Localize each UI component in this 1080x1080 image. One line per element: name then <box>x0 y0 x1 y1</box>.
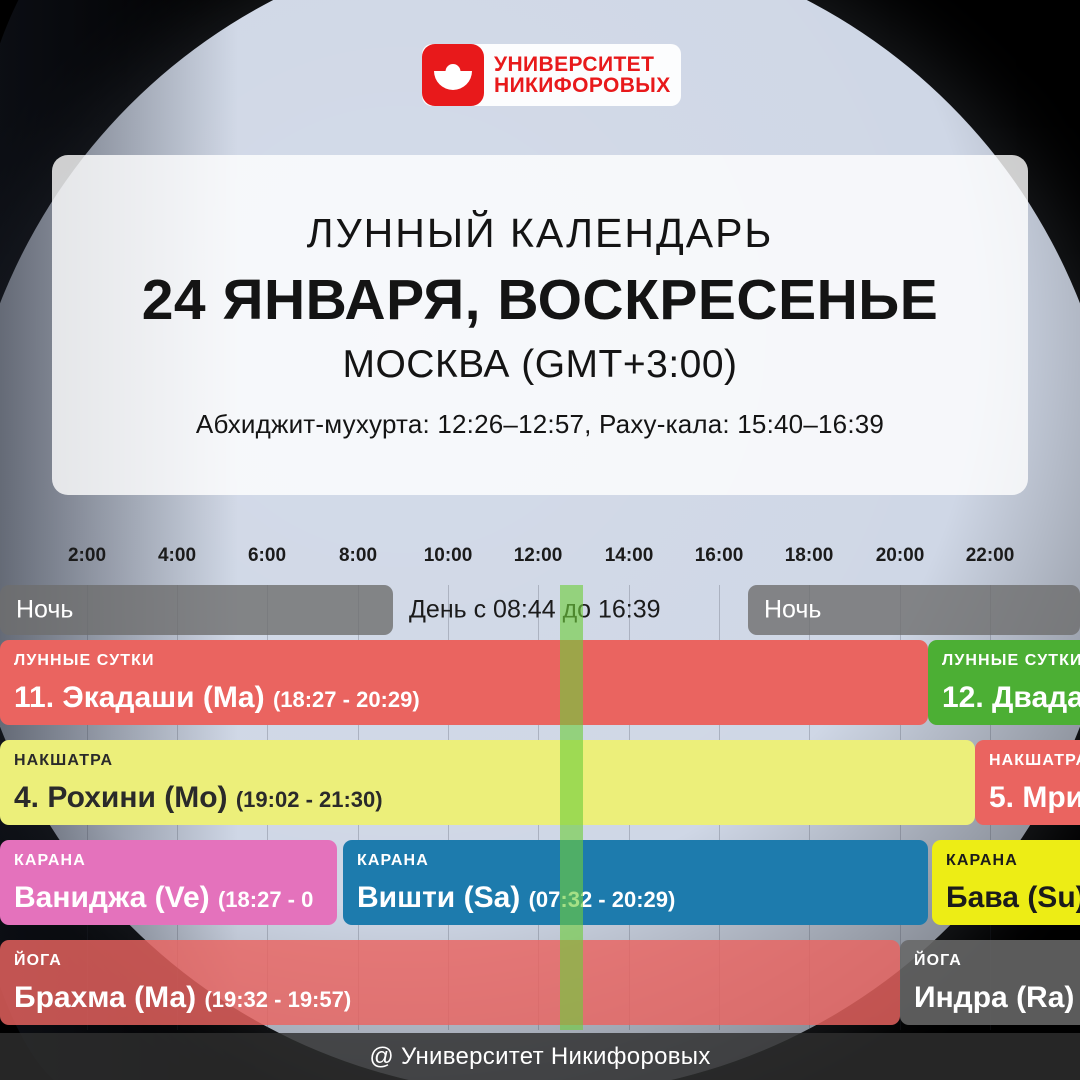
timeline-row-lunar-day: ЛУННЫЕ СУТКИ11. Экадаши (Ma) (18:27 - 20… <box>0 640 1080 725</box>
timeline-bar[interactable]: ЙОГАБрахма (Ма) (19:32 - 19:57) <box>0 940 900 1025</box>
bar-category-label: ЙОГА <box>914 952 962 970</box>
bar-value-label: Вишти (Sa) (07:32 - 20:29) <box>357 881 675 915</box>
logo-crescent-shape <box>434 71 472 90</box>
timeline-bar[interactable]: ЙОГАИндра (Ra) <box>900 940 1080 1025</box>
timeline-row-karana: КАРАНАВаниджа (Ve) (18:27 - 0КАРАНАВишти… <box>0 840 1080 925</box>
timeline-rows: НочьДень с 08:44 до 16:39НочьЛУННЫЕ СУТК… <box>0 585 1080 1033</box>
bar-value-label: 12. Двадаши (Sa) <box>942 681 1080 715</box>
axis-tick-label: 16:00 <box>695 545 744 567</box>
axis-tick-label: 18:00 <box>785 545 834 567</box>
muhurta-line: Абхиджит-мухурта: 12:26–12:57, Раху-кала… <box>196 409 884 440</box>
logo-line-1: УНИВЕРСИТЕТ <box>494 54 671 75</box>
daynight-label: Ночь <box>764 596 821 625</box>
infographic-root: УНИВЕРСИТЕТ НИКИФОРОВЫХ ЛУННЫЙ КАЛЕНДАРЬ… <box>0 0 1080 1080</box>
footer-credit: @ Университет Никифоровых <box>0 1033 1080 1080</box>
bar-category-label: КАРАНА <box>357 852 429 870</box>
timeline-bar[interactable]: ЛУННЫЕ СУТКИ12. Двадаши (Sa) <box>928 640 1080 725</box>
timeline-bar[interactable]: КАРАНАВишти (Sa) (07:32 - 20:29) <box>343 840 928 925</box>
bar-category-label: НАКШАТРА <box>989 752 1080 770</box>
timeline-bar[interactable]: КАРАНАБава (Su) <box>932 840 1080 925</box>
daynight-label: Ночь <box>16 596 73 625</box>
daynight-segment-night-left: Ночь <box>0 585 393 635</box>
bar-value-label: 5. Мригашира (Ma) <box>989 781 1080 815</box>
daynight-row: НочьДень с 08:44 до 16:39Ночь <box>0 585 1080 635</box>
brand-logo: УНИВЕРСИТЕТ НИКИФОРОВЫХ <box>422 44 681 106</box>
timeline-row-nakshatra: НАКШАТРА4. Рохини (Мо) (19:02 - 21:30)НА… <box>0 740 1080 825</box>
bar-time-range: (18:27 - 20:29) <box>273 687 420 712</box>
title-card: ЛУННЫЙ КАЛЕНДАРЬ 24 ЯНВАРЯ, ВОСКРЕСЕНЬЕ … <box>52 155 1028 495</box>
location-timezone: МОСКВА (GMT+3:00) <box>342 343 737 387</box>
bar-time-range: (18:27 - 0 <box>218 887 313 912</box>
axis-tick-label: 2:00 <box>68 545 106 567</box>
daynight-label: День с 08:44 до 16:39 <box>409 596 661 625</box>
logo-wordmark: УНИВЕРСИТЕТ НИКИФОРОВЫХ <box>494 54 671 97</box>
abhijit-muhurta-band <box>560 585 583 1030</box>
page-title: 24 ЯНВАРЯ, ВОСКРЕСЕНЬЕ <box>142 267 939 333</box>
axis-tick-label: 8:00 <box>339 545 377 567</box>
timeline-bar[interactable]: ЛУННЫЕ СУТКИ11. Экадаши (Ma) (18:27 - 20… <box>0 640 928 725</box>
axis-tick-label: 20:00 <box>876 545 925 567</box>
timeline-row-yoga: ЙОГАБрахма (Ма) (19:32 - 19:57)ЙОГАИндра… <box>0 940 1080 1025</box>
bar-value-label: Бава (Su) <box>946 881 1080 915</box>
bar-category-label: ЙОГА <box>14 952 62 970</box>
bar-time-range: (19:02 - 21:30) <box>236 787 383 812</box>
bar-value-label: Ваниджа (Ve) (18:27 - 0 <box>14 881 313 915</box>
bar-value-label: Индра (Ra) <box>914 981 1074 1015</box>
axis-tick-label: 12:00 <box>514 545 563 567</box>
axis-tick-label: 22:00 <box>966 545 1015 567</box>
axis-tick-label: 4:00 <box>158 545 196 567</box>
calendar-kicker: ЛУННЫЙ КАЛЕНДАРЬ <box>307 210 774 257</box>
daynight-segment-night-right: Ночь <box>748 585 1080 635</box>
bar-value-label: Брахма (Ма) (19:32 - 19:57) <box>14 981 351 1015</box>
timeline-bar[interactable]: НАКШАТРА4. Рохини (Мо) (19:02 - 21:30) <box>0 740 975 825</box>
timeline-bar[interactable]: КАРАНАВаниджа (Ve) (18:27 - 0 <box>0 840 337 925</box>
timeline-bar[interactable]: НАКШАТРА5. Мригашира (Ma) <box>975 740 1080 825</box>
bar-time-range: (19:32 - 19:57) <box>204 987 351 1012</box>
bar-time-range: (07:32 - 20:29) <box>529 887 676 912</box>
bar-category-label: КАРАНА <box>14 852 86 870</box>
time-axis: 2:004:006:008:0010:0012:0014:0016:0018:0… <box>0 545 1080 585</box>
axis-tick-label: 10:00 <box>424 545 473 567</box>
bar-category-label: ЛУННЫЕ СУТКИ <box>14 652 155 670</box>
bar-category-label: ЛУННЫЕ СУТКИ <box>942 652 1080 670</box>
axis-tick-label: 6:00 <box>248 545 286 567</box>
bar-category-label: НАКШАТРА <box>14 752 113 770</box>
bar-value-label: 4. Рохини (Мо) (19:02 - 21:30) <box>14 781 383 815</box>
axis-tick-label: 14:00 <box>605 545 654 567</box>
logo-line-2: НИКИФОРОВЫХ <box>494 75 671 96</box>
bar-category-label: КАРАНА <box>946 852 1018 870</box>
bar-value-label: 11. Экадаши (Ma) (18:27 - 20:29) <box>14 681 420 715</box>
logo-moon-icon <box>422 44 484 106</box>
